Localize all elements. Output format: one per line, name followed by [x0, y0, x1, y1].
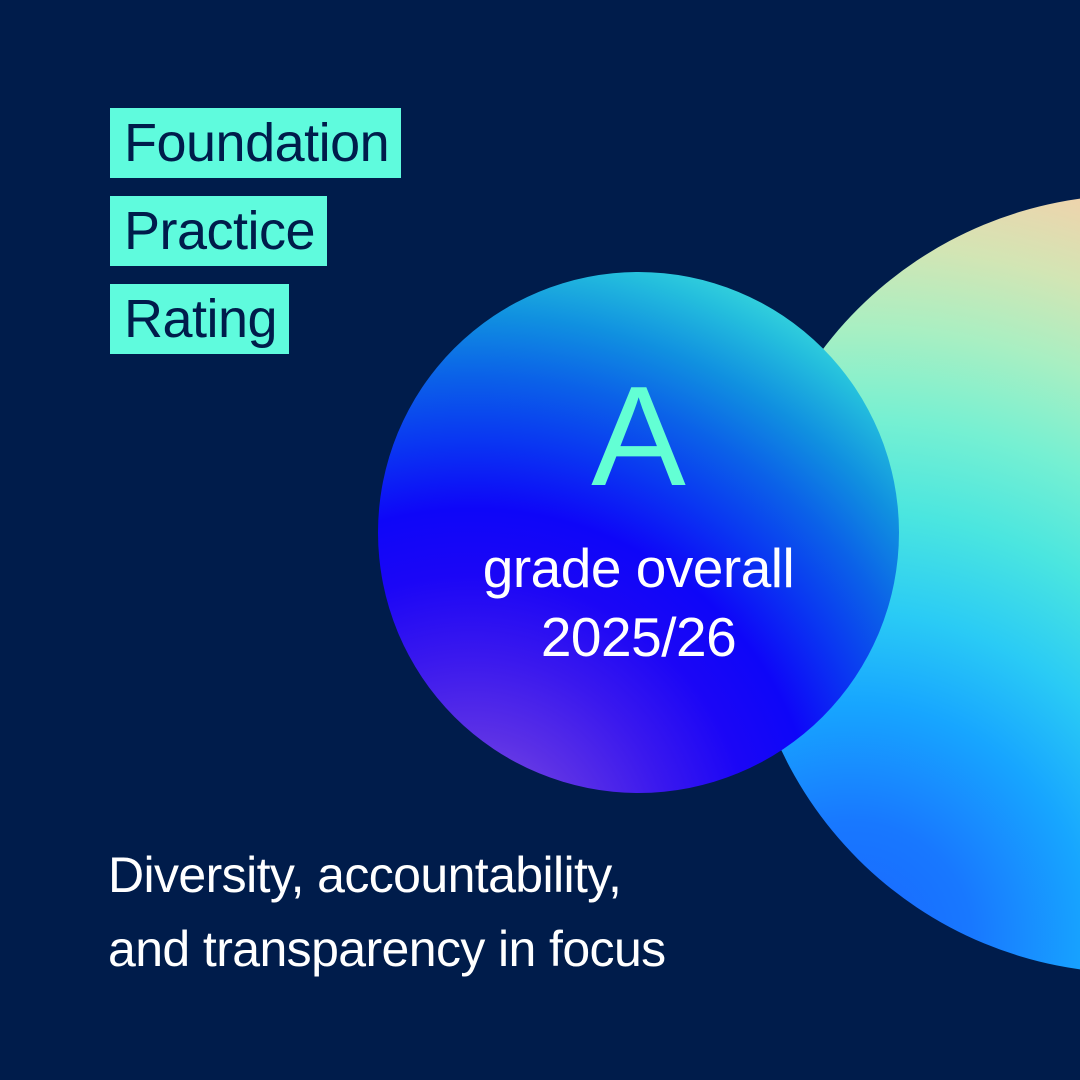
grade-caption: grade overall 2025/26: [378, 534, 899, 672]
foundation-practice-rating-logo: Foundation Practice Rating: [110, 108, 401, 354]
promo-card: A grade overall 2025/26 Foundation Pract…: [0, 0, 1080, 1080]
grade-caption-line-1: grade overall: [378, 534, 899, 603]
strapline: Diversity, accountability, and transpare…: [108, 838, 666, 986]
grade-caption-line-2: 2025/26: [378, 603, 899, 672]
grade-letter: A: [378, 366, 899, 508]
grade-badge-content: A grade overall 2025/26: [378, 272, 899, 793]
strapline-line-1: Diversity, accountability,: [108, 838, 666, 912]
grade-badge-circle: A grade overall 2025/26: [378, 272, 899, 793]
strapline-line-2: and transparency in focus: [108, 912, 666, 986]
logo-line-foundation: Foundation: [110, 108, 401, 178]
logo-line-rating: Rating: [110, 284, 289, 354]
logo-line-practice: Practice: [110, 196, 327, 266]
